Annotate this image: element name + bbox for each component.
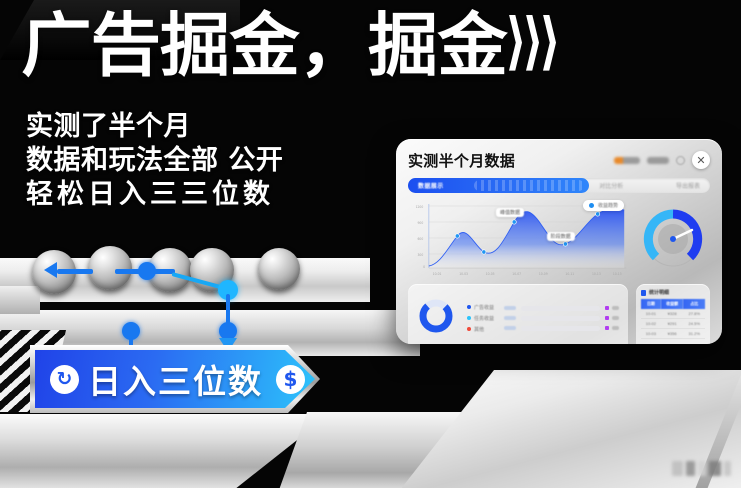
- header-label-blurred: [647, 157, 669, 164]
- chain-sphere: [88, 246, 132, 290]
- chain-link: [57, 269, 93, 274]
- tab-compare-label[interactable]: 对比分析: [599, 181, 623, 190]
- table-cell: ¥328: [661, 309, 684, 319]
- table-row: 10-02 ¥291 24.5%: [641, 319, 705, 329]
- donut-legend: 广告收益 任务收益 其他: [467, 304, 494, 333]
- x-tick-label: 10-01: [433, 272, 442, 276]
- table-row: 10-03 ¥356 31.2%: [641, 329, 705, 339]
- tab-export-label[interactable]: 导出报表: [676, 181, 700, 190]
- y-tick-label: 300: [417, 253, 423, 257]
- progress-bar-group: [504, 306, 619, 331]
- bar-label: [504, 326, 516, 330]
- chart-legend[interactable]: 收益趋势: [583, 200, 624, 211]
- donut-svg: [417, 297, 455, 335]
- table-title: 统计明细: [649, 289, 669, 296]
- bar-value: [612, 326, 619, 330]
- bar-label: [504, 316, 516, 320]
- legend-item: 其他: [467, 326, 494, 333]
- table-cell: 24.5%: [683, 319, 705, 329]
- dashboard-header-controls: ✕: [614, 151, 710, 169]
- dollar-circle-icon: $: [276, 365, 305, 394]
- tab-data-display-label: 数据展示: [418, 181, 444, 190]
- dashboard-panel: 实测半个月数据 ✕ 数据展示 对比分析 导出报表: [396, 139, 722, 344]
- table-panel: 统计明细 日期 收益额 占比 10-01 ¥328 27.8% 10-02: [636, 284, 710, 344]
- table-cell: ¥291: [661, 319, 684, 329]
- bar-label: [504, 306, 516, 310]
- legend-label: 任务收益: [474, 315, 494, 322]
- legend-color-dot: [467, 327, 471, 331]
- cta-frame: ↻ 日入三位数 $: [30, 345, 320, 413]
- table-cell: 10-01: [641, 309, 661, 319]
- x-tick-label: 10-13: [592, 272, 601, 276]
- legend-color-dot: [467, 305, 471, 309]
- y-tick-label: 900: [417, 221, 423, 225]
- bar-end: [605, 326, 619, 330]
- poster-root: 广告掘金，掘金 实测了半个月 数据和玩法全部 公开 轻松日入三三位数: [0, 0, 741, 488]
- area-chart: 1200 900 600 300 0 10-01 10-03 10-05 10-…: [408, 200, 628, 278]
- metal-band-lower-left: [0, 414, 330, 488]
- x-tick-label: 10-05: [486, 272, 495, 276]
- table-header-row: 日期 收益额 占比: [641, 299, 705, 309]
- bar-marker-icon: [605, 306, 609, 310]
- subheadline-group: 实测了半个月 数据和玩法全部 公开 轻松日入三三位数: [26, 110, 283, 212]
- table-header-cell: 占比: [683, 299, 705, 309]
- table-cell: 27.8%: [683, 309, 705, 319]
- x-tick-label: 10-07: [512, 272, 521, 276]
- dashboard-title: 实测半个月数据: [408, 150, 515, 171]
- bar-track: [521, 326, 600, 331]
- chain-node: [138, 262, 156, 280]
- data-point: [596, 212, 600, 216]
- legend-item: 广告收益: [467, 304, 494, 311]
- x-tick-label: 10-11: [565, 272, 574, 276]
- table-panel-header: 统计明细: [641, 289, 705, 296]
- chart-tooltip: 峰值数据: [496, 208, 524, 217]
- gauge-svg: [640, 206, 706, 272]
- legend-label: 广告收益: [474, 304, 494, 311]
- data-table: 日期 收益额 占比 10-01 ¥328 27.8% 10-02 ¥291 24…: [641, 299, 705, 339]
- chevron-icon: [526, 15, 539, 71]
- legend-color-dot: [589, 203, 594, 208]
- table-cell: 31.2%: [683, 329, 705, 339]
- close-icon[interactable]: ✕: [692, 151, 710, 169]
- legend-label: 收益趋势: [598, 202, 618, 209]
- chevron-icon: [543, 15, 556, 71]
- data-point: [455, 234, 459, 238]
- bar-end: [605, 306, 619, 310]
- arrow-left-icon: [44, 262, 57, 278]
- table-row: 10-01 ¥328 27.8%: [641, 309, 705, 319]
- circle-control-icon[interactable]: [676, 156, 685, 165]
- table-header-cell: 日期: [641, 299, 661, 309]
- progress-bar-row: [504, 316, 619, 321]
- chevron-group: [509, 15, 556, 71]
- progress-bar-row: [504, 326, 619, 331]
- tab-data-display[interactable]: 数据展示: [408, 178, 589, 193]
- y-tick-label: 600: [417, 237, 423, 241]
- summary-panel: 广告收益 任务收益 其他: [408, 284, 628, 344]
- blurred-watermark: [672, 461, 731, 476]
- tab-inactive-group: 对比分析 导出报表: [589, 181, 710, 190]
- cta-label: 日入三位数: [88, 355, 263, 403]
- chart-tooltip: 阶段数据: [547, 232, 575, 241]
- headline-text: 广告掘金，掘金: [21, 13, 507, 81]
- dashboard-footer: 广告收益 任务收益 其他: [408, 284, 710, 344]
- bar-end: [605, 316, 619, 320]
- y-tick-label: 0: [423, 265, 425, 269]
- progress-bar-row: [504, 306, 619, 311]
- cta-badge[interactable]: ↻ 日入三位数 $: [30, 345, 320, 413]
- bar-marker-icon: [605, 326, 609, 330]
- donut-chart: [417, 297, 457, 340]
- refresh-circle-icon: ↻: [50, 365, 79, 394]
- bar-track: [521, 316, 600, 321]
- dashboard-header: 实测半个月数据 ✕: [408, 149, 710, 171]
- headline: 广告掘金，掘金: [26, 13, 556, 81]
- table-cell: 10-03: [641, 329, 661, 339]
- bar-value: [612, 306, 619, 310]
- cta-inner: ↻ 日入三位数 $: [35, 350, 315, 408]
- gauge-widget: [636, 200, 710, 278]
- y-tick-label: 1200: [416, 205, 424, 209]
- bar-marker-icon: [605, 316, 609, 320]
- table-icon: [641, 290, 646, 296]
- dashboard-body: 1200 900 600 300 0 10-01 10-03 10-05 10-…: [408, 200, 710, 278]
- status-indicator: [614, 157, 640, 164]
- table-header-cell: 收益额: [661, 299, 684, 309]
- x-tick-label: 10-15: [613, 272, 622, 276]
- bar-value: [612, 316, 619, 320]
- subheadline-line-2: 数据和玩法全部 公开: [26, 144, 283, 178]
- chevron-icon: [509, 15, 522, 71]
- table-cell: 10-02: [641, 319, 661, 329]
- x-tick-label: 10-09: [539, 272, 548, 276]
- data-point: [482, 250, 486, 254]
- legend-label: 其他: [474, 326, 484, 333]
- table-cell: ¥356: [661, 329, 684, 339]
- x-tick-label: 10-03: [459, 272, 468, 276]
- data-point: [512, 220, 516, 224]
- legend-item: 任务收益: [467, 315, 494, 322]
- segmented-tab-bar[interactable]: 数据展示 对比分析 导出报表: [408, 178, 710, 193]
- subheadline-line-1: 实测了半个月: [26, 110, 283, 144]
- bar-track: [521, 306, 600, 311]
- legend-color-dot: [467, 316, 471, 320]
- subheadline-line-3: 轻松日入三三位数: [26, 178, 283, 212]
- data-point: [563, 242, 567, 246]
- chain-sphere: [258, 248, 300, 290]
